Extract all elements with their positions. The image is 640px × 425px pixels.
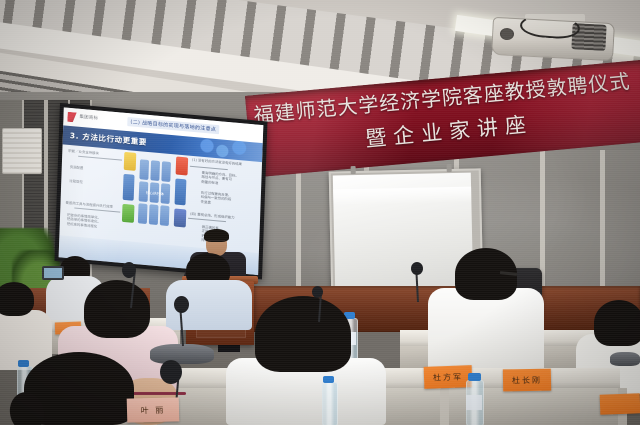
name-card-2: 杜长刚 [503, 369, 551, 392]
attendee-center-hair [255, 296, 351, 372]
diagram-block-center-3 [161, 161, 171, 182]
whiteboard-clip-left [351, 166, 356, 174]
note-right-1: 要有明确的方向、目标、 路径与节点、要有可 衡量的标准 [201, 171, 261, 190]
attendee-pink-shirt-hair [84, 280, 150, 338]
diagram-block-yellow [124, 152, 137, 171]
diagram-block-center-1 [139, 159, 149, 180]
microphone-head-e [312, 286, 323, 298]
diagram-block-right-blue [175, 178, 187, 205]
note-right-2: 执行过程要有反馈、 纠偏与一致性的阶段 性复盘 [201, 191, 261, 210]
microphone-base-f [610, 352, 640, 366]
microphone-head-b [122, 262, 136, 278]
microphone-base-a [150, 344, 214, 364]
note-bottom-left-body: 把复杂的事情简单化、 把简单的事情标准化、 把标准的事情流程化 [67, 213, 121, 231]
water-bottle-4-cap [323, 376, 334, 383]
water-bottle-2-label [466, 395, 482, 410]
diagram-block-center-7 [138, 203, 148, 224]
camera-phone-screen [44, 268, 62, 278]
speaker-glasses [208, 240, 225, 245]
diagram-block-navy [174, 208, 187, 227]
water-bottle-4 [322, 382, 338, 425]
diagram-block-green [122, 204, 135, 223]
whiteboard-clip-right [447, 164, 452, 172]
name-card-6 [600, 393, 640, 414]
water-bottle-2-cap [468, 373, 481, 381]
front-table-leg-2 [440, 388, 449, 425]
microphone-head-d [411, 262, 423, 275]
diagram-block-center-8 [149, 204, 159, 225]
presentation-slide: 集团商标 (二) 战略目标的实现与落地的注意点 3. 方法比行动更重要 核心执行… [59, 107, 264, 275]
name-card-3: 叶 丽 [127, 397, 180, 422]
attendee-far-right-hair [594, 300, 640, 346]
attendee-far-left-hair [0, 282, 34, 316]
microphone-head-c [160, 360, 182, 384]
diagram-block-red [176, 156, 189, 175]
air-conditioner-unit [2, 128, 42, 174]
water-bottle-3-cap [18, 360, 29, 367]
note-mid-left-2: 过程管控 [69, 179, 109, 187]
attendee-right-body [428, 288, 544, 376]
diagram-block-left-blue [123, 174, 135, 201]
diagram-block-center-2 [150, 160, 160, 181]
microphone-head-a [174, 296, 189, 313]
leader-line-top-right [190, 166, 228, 170]
whiteboard-glare [333, 187, 471, 206]
diagram-block-center-9 [160, 205, 170, 226]
lecture-hall-photo: 福建师范大学经济学院客座教授敦聘仪式 暨企业家讲座 集团商标 (二) 战略目标的… [0, 0, 640, 425]
note-mid-left-1: 资源配置 [70, 165, 110, 173]
